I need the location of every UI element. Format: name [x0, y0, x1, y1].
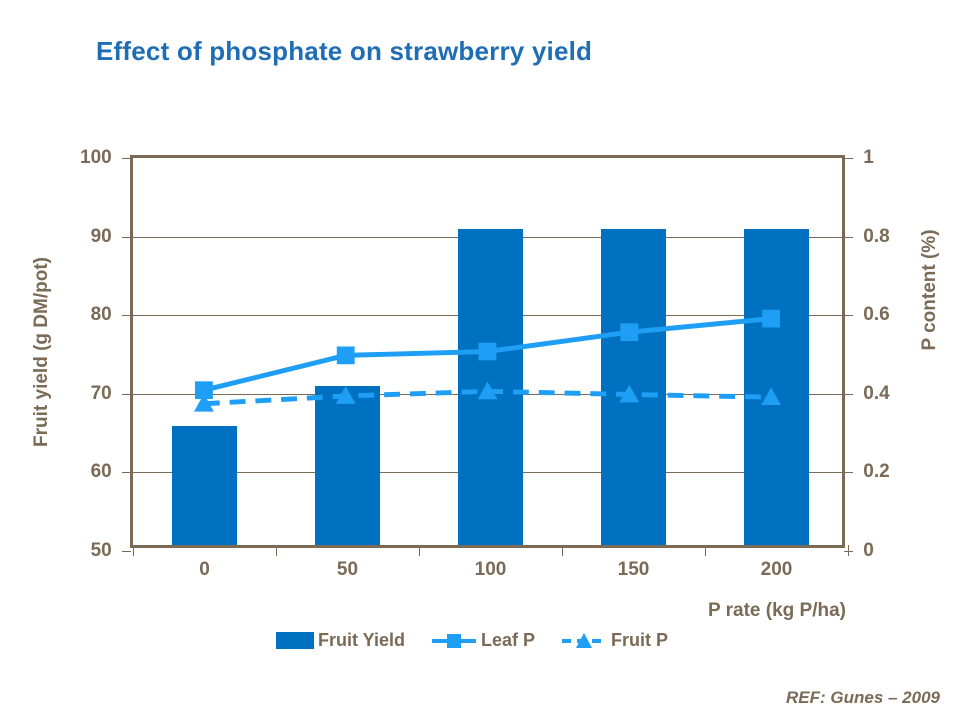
x-axis-title: P rate (kg P/ha): [708, 600, 846, 622]
chart-legend: Fruit YieldLeaf PFruit P: [276, 630, 668, 651]
legend-item[interactable]: Leaf P: [431, 630, 535, 651]
y-axis-left-tick: [122, 237, 131, 238]
x-axis-tick: [848, 545, 849, 556]
y-axis-right-tick-label: 1: [863, 147, 874, 169]
y-axis-right-tick: [844, 472, 853, 473]
chart-plot-wrapper: Fruit yield (g DM/pot) P content (%) P r…: [0, 0, 960, 720]
legend-line-swatch: [561, 632, 607, 650]
y-axis-left-tick-label: 70: [91, 383, 112, 405]
legend-label: Leaf P: [481, 630, 535, 651]
square-marker: [762, 310, 780, 328]
line-series-overlay: [133, 158, 842, 545]
legend-bar-swatch: [276, 632, 314, 649]
y-axis-left-tick: [122, 394, 131, 395]
square-marker: [620, 323, 638, 341]
x-axis-tick-label: 50: [337, 559, 358, 581]
legend-item[interactable]: Fruit P: [561, 630, 668, 651]
y-axis-title-left: Fruit yield (g DM/pot): [31, 257, 53, 447]
y-axis-left-tick-label: 50: [91, 540, 112, 562]
y-axis-left-tick: [122, 472, 131, 473]
y-axis-left-tick-label: 60: [91, 461, 112, 483]
y-axis-right-tick-label: 0.6: [863, 304, 889, 326]
y-axis-left-tick: [122, 551, 131, 552]
x-axis-tick: [419, 545, 420, 556]
y-axis-right-tick: [844, 315, 853, 316]
y-axis-right-tick-label: 0.4: [863, 383, 889, 405]
x-axis-tick: [276, 545, 277, 556]
legend-label: Fruit P: [611, 630, 668, 651]
y-axis-left-tick-label: 100: [80, 147, 112, 169]
triangle-marker: [761, 387, 781, 405]
x-axis-tick-label: 0: [199, 559, 210, 581]
y-axis-right-tick: [844, 237, 853, 238]
square-marker: [337, 347, 355, 365]
square-marker: [479, 343, 497, 361]
legend-line-swatch: [431, 632, 477, 650]
y-axis-right-tick: [844, 394, 853, 395]
reference-note: REF: Gunes – 2009: [786, 688, 940, 708]
y-axis-left-tick-label: 90: [91, 226, 112, 248]
legend-label: Fruit Yield: [318, 630, 405, 651]
y-axis-left-tick-label: 80: [91, 304, 112, 326]
y-axis-title-right: P content (%): [919, 229, 941, 350]
y-axis-right-tick: [844, 158, 853, 159]
y-axis-right-tick-label: 0: [863, 540, 874, 562]
x-axis-tick-label: 200: [761, 559, 793, 581]
x-axis-tick-label: 100: [475, 559, 507, 581]
plot-area: 5060708090100 00.20.40.60.81 05010015020…: [130, 155, 845, 548]
y-axis-right-tick-label: 0.2: [863, 461, 889, 483]
y-axis-left-tick: [122, 315, 131, 316]
x-axis-tick: [562, 545, 563, 556]
x-axis-tick: [705, 545, 706, 556]
y-axis-left-tick: [122, 158, 131, 159]
x-axis-tick: [133, 545, 134, 556]
legend-item[interactable]: Fruit Yield: [276, 630, 405, 651]
x-axis-tick-label: 150: [618, 559, 650, 581]
y-axis-right-tick-label: 0.8: [863, 226, 889, 248]
